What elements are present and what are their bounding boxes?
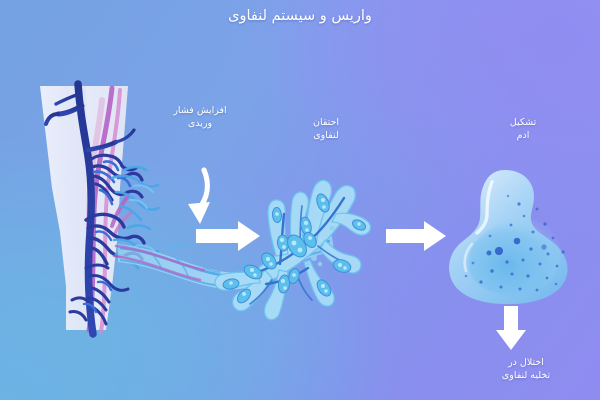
- arrow-curved-down: [188, 170, 210, 224]
- label-edema-formation: تشکیل ادم: [480, 116, 566, 142]
- illustration-layer: [0, 0, 600, 400]
- label-drainage-disorder: اختلال در تخلیه لنفاوی: [472, 356, 580, 382]
- lymph-cells: [222, 192, 367, 305]
- page-title: واریس و سیستم لنفاوی: [0, 8, 600, 24]
- label-lymphatic-congestion-line2: لنفاوی: [283, 129, 369, 142]
- arrow-down: [496, 306, 526, 350]
- infographic-canvas: واریس و سیستم لنفاوی افزایش فشار وریدی ا…: [0, 0, 600, 400]
- arrow-group: [188, 170, 526, 350]
- label-venous-pressure: افزایش فشار وریدی: [155, 104, 245, 130]
- label-venous-pressure-line2: وریدی: [155, 117, 245, 130]
- label-lymphatic-congestion: احتقان لنفاوی: [283, 116, 369, 142]
- leg-varicose-veins-illustration: [40, 84, 159, 334]
- label-venous-pressure-line1: افزایش فشار: [155, 104, 245, 117]
- background-gradient-wash: [0, 0, 600, 400]
- label-lymphatic-congestion-line1: احتقان: [283, 116, 369, 129]
- arrow-right-1: [196, 221, 260, 251]
- label-drainage-disorder-line1: اختلال در: [472, 356, 580, 369]
- lymphatic-network-illustration: [215, 180, 371, 320]
- label-drainage-disorder-line2: تخلیه لنفاوی: [472, 369, 580, 382]
- edema-fluid-dots: [465, 195, 565, 292]
- lymphatic-connector-band: [114, 236, 334, 289]
- edema-blob-illustration: [449, 170, 568, 304]
- label-edema-formation-line2: ادم: [480, 129, 566, 142]
- label-edema-formation-line1: تشکیل: [480, 116, 566, 129]
- arrow-right-2: [386, 221, 446, 251]
